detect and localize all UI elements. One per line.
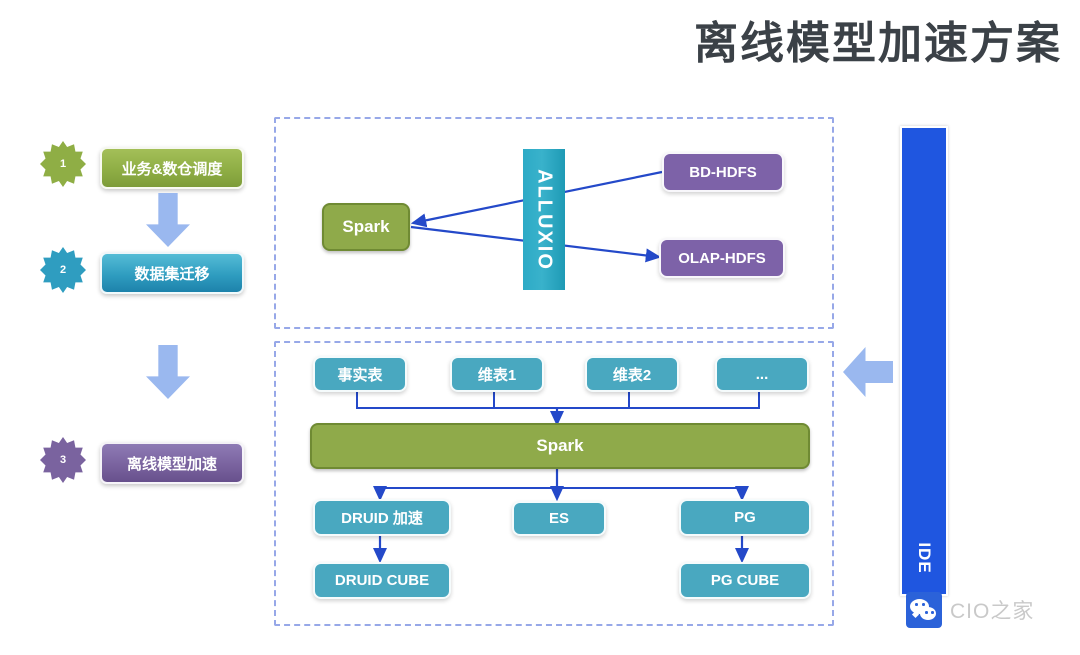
node-druid-cube-label: DRUID CUBE: [335, 572, 429, 589]
node-bd-hdfs[interactable]: BD-HDFS: [662, 152, 784, 192]
node-source-fact-table-label: 事实表: [337, 364, 382, 385]
page-title: 离线模型加速方案: [694, 22, 1062, 66]
step-badge-2: 2: [40, 247, 86, 293]
slide-root: 离线模型加速方案 1 业务&数仓调度 2 数据集迁移 3 离线模型加速: [0, 0, 1080, 655]
step-label-2: 数据集迁移: [134, 263, 209, 284]
down-arrow-2: [146, 345, 190, 399]
down-arrow-1: [146, 193, 190, 247]
node-output-druid-label: DRUID 加速: [341, 507, 423, 528]
node-olap-hdfs-label: OLAP-HDFS: [678, 250, 766, 267]
node-pg-cube[interactable]: PG CUBE: [679, 562, 811, 599]
node-alluxio[interactable]: ALLUXIO: [523, 149, 565, 290]
step-box-3[interactable]: 离线模型加速: [100, 442, 244, 484]
node-druid-cube[interactable]: DRUID CUBE: [313, 562, 451, 599]
step-number-2: 2: [60, 264, 66, 276]
node-alluxio-label: ALLUXIO: [533, 169, 556, 271]
wechat-icon: [906, 592, 942, 628]
step-badge-3: 3: [40, 437, 86, 483]
node-bd-hdfs-label: BD-HDFS: [689, 164, 757, 181]
node-spark-top[interactable]: Spark: [322, 203, 410, 251]
node-pg-cube-label: PG CUBE: [711, 572, 779, 589]
ide-left-arrow: [843, 347, 893, 397]
step-label-1: 业务&数仓调度: [122, 158, 223, 179]
step-box-2[interactable]: 数据集迁移: [100, 252, 244, 294]
step-number-3: 3: [60, 454, 66, 466]
node-source-dim2-label: 维表2: [613, 364, 651, 385]
node-source-dim1-label: 维表1: [478, 364, 516, 385]
node-spark-engine-label: Spark: [536, 436, 583, 456]
node-olap-hdfs[interactable]: OLAP-HDFS: [659, 238, 785, 278]
node-spark-top-label: Spark: [342, 217, 389, 237]
node-output-pg-label: PG: [734, 509, 756, 526]
ide-bar[interactable]: IDE: [900, 126, 948, 596]
node-output-es-label: ES: [549, 510, 569, 527]
node-spark-engine[interactable]: Spark: [310, 423, 810, 469]
step-label-3: 离线模型加速: [127, 453, 217, 474]
ide-bar-label: IDE: [914, 542, 934, 573]
node-output-druid[interactable]: DRUID 加速: [313, 499, 451, 536]
node-source-more[interactable]: ...: [715, 356, 809, 392]
node-source-dim1[interactable]: 维表1: [450, 356, 544, 392]
watermark-text: CIO之家: [950, 595, 1034, 625]
node-output-pg[interactable]: PG: [679, 499, 811, 536]
node-source-dim2[interactable]: 维表2: [585, 356, 679, 392]
node-source-fact-table[interactable]: 事实表: [313, 356, 407, 392]
node-source-more-label: ...: [756, 366, 769, 383]
watermark: CIO之家: [906, 592, 1034, 628]
step-number-1: 1: [60, 158, 66, 170]
step-box-1[interactable]: 业务&数仓调度: [100, 147, 244, 189]
node-output-es[interactable]: ES: [512, 501, 606, 536]
step-badge-1: 1: [40, 141, 86, 187]
